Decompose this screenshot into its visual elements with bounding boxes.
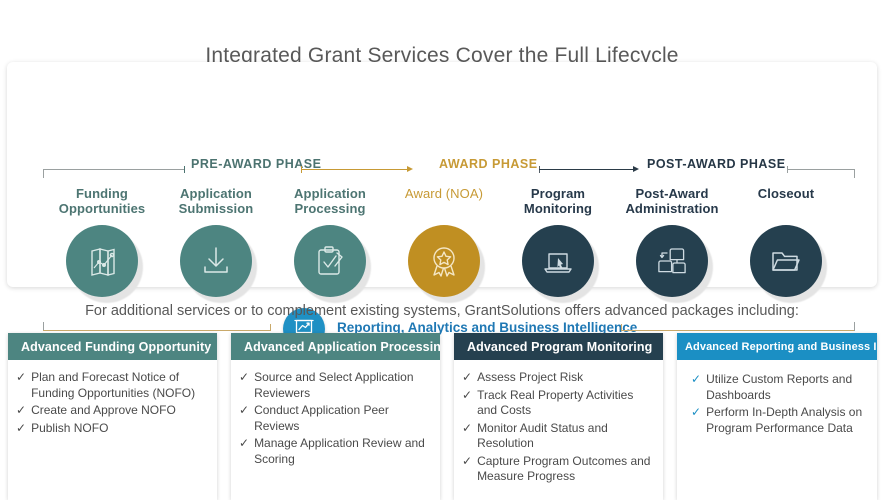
clipboard-check-icon <box>294 225 366 297</box>
package-header: Advanced Reporting and Business Intellig… <box>677 333 877 360</box>
step-label-line2: Monitoring <box>499 201 617 216</box>
step-application-processing[interactable]: Application Processing <box>271 186 389 297</box>
list-item-text: Assess Project Risk <box>477 370 655 386</box>
step-closeout[interactable]: Closeout <box>727 186 845 297</box>
download-tray-icon <box>180 225 252 297</box>
package-title: Advanced Funding Opportunity <box>21 340 211 354</box>
phase-label-post-award: POST-AWARD PHASE <box>647 157 786 171</box>
advanced-packages: Advanced Funding Opportunity ✓ Plan and … <box>0 333 884 500</box>
report-tick-left <box>270 324 271 331</box>
package-title: Advanced Application Processing <box>244 340 440 354</box>
step-label-line1: Award (NOA) <box>385 186 503 201</box>
package-title: Advanced Program Monitoring <box>467 340 652 354</box>
band-arrow-2 <box>633 166 639 172</box>
list-item-text: Publish NOFO <box>31 421 209 437</box>
check-icon: ✓ <box>691 372 701 403</box>
step-label-line1: Closeout <box>727 186 845 201</box>
check-icon: ✓ <box>691 405 701 436</box>
list-item: ✓ Conduct Application Peer Reviews <box>239 403 432 434</box>
list-item-text: Monitor Audit Status and Resolution <box>477 421 655 452</box>
package-body: ✓ Assess Project Risk ✓ Track Real Prope… <box>454 360 663 485</box>
lifecycle-steps: Funding Opportunities <box>43 186 855 296</box>
check-icon: ✓ <box>462 370 472 386</box>
list-item: ✓ Capture Program Outcomes and Measure P… <box>462 454 655 485</box>
phase-label-award: AWARD PHASE <box>439 157 538 171</box>
report-line-right <box>621 330 855 331</box>
step-label-line2: Opportunities <box>43 201 161 216</box>
list-item: ✓ Manage Application Review and Scoring <box>239 436 432 467</box>
package-header: Advanced Program Monitoring <box>454 333 663 360</box>
list-item-text: Track Real Property Activities and Costs <box>477 388 655 419</box>
step-label-line1: Application <box>157 186 275 201</box>
phase-band: PRE-AWARD PHASE AWARD PHASE POST-AWARD P… <box>43 158 855 180</box>
report-line-left <box>43 330 271 331</box>
list-item: ✓ Utilize Custom Reports and Dashboards <box>691 372 869 403</box>
list-item-text: Plan and Forecast Notice of Funding Oppo… <box>31 370 209 401</box>
band-line-3 <box>539 169 635 170</box>
list-item: ✓ Monitor Audit Status and Resolution <box>462 421 655 452</box>
list-item: ✓ Plan and Forecast Notice of Funding Op… <box>16 370 209 401</box>
package-card-advanced-funding-opportunity[interactable]: Advanced Funding Opportunity ✓ Plan and … <box>8 333 217 500</box>
list-item-text: Utilize Custom Reports and Dashboards <box>706 372 869 403</box>
lifecycle-card: PRE-AWARD PHASE AWARD PHASE POST-AWARD P… <box>7 62 877 287</box>
step-program-monitoring[interactable]: Program Monitoring <box>499 186 617 297</box>
step-label-line2: Processing <box>271 201 389 216</box>
step-label-line1: Post-Award <box>613 186 731 201</box>
list-item: ✓ Create and Approve NOFO <box>16 403 209 419</box>
package-card-advanced-reporting-and-business-intelligence[interactable]: Advanced Reporting and Business Intellig… <box>677 333 877 500</box>
package-card-advanced-program-monitoring[interactable]: Advanced Program Monitoring ✓ Assess Pro… <box>454 333 663 500</box>
list-item-text: Perform In-Depth Analysis on Program Per… <box>706 405 869 436</box>
check-icon: ✓ <box>462 421 472 452</box>
step-label-line2: Administration <box>613 201 731 216</box>
package-body: ✓ Plan and Forecast Notice of Funding Op… <box>8 360 217 436</box>
step-label-line1: Program <box>499 186 617 201</box>
list-item: ✓ Perform In-Depth Analysis on Program P… <box>691 405 869 436</box>
chart-panel-icon <box>66 225 138 297</box>
band-arrow-1 <box>407 166 413 172</box>
band-right-cap <box>854 169 855 178</box>
list-item: ✓ Assess Project Risk <box>462 370 655 386</box>
check-icon: ✓ <box>462 388 472 419</box>
list-item: ✓ Source and Select Application Reviewer… <box>239 370 432 401</box>
slide-canvas: Integrated Grant Services Cover the Full… <box>0 0 884 500</box>
award-medal-icon <box>408 225 480 297</box>
report-right-cap <box>854 322 855 331</box>
check-icon: ✓ <box>239 370 249 401</box>
check-icon: ✓ <box>239 436 249 467</box>
check-icon: ✓ <box>239 403 249 434</box>
band-line-1 <box>43 169 185 170</box>
additional-services-note: For additional services or to complement… <box>0 303 884 319</box>
band-left-cap <box>43 169 44 178</box>
list-item: ✓ Track Real Property Activities and Cos… <box>462 388 655 419</box>
list-item-text: Manage Application Review and Scoring <box>254 436 432 467</box>
band-tick-1 <box>184 166 185 173</box>
package-header: Advanced Funding Opportunity <box>8 333 217 360</box>
package-card-advanced-application-processing[interactable]: Advanced Application Processing ✓ Source… <box>231 333 440 500</box>
step-post-award-administration[interactable]: Post-Award Administration <box>613 186 731 297</box>
band-line-4 <box>787 169 855 170</box>
package-title: Advanced Reporting and Business Intellig… <box>685 341 877 353</box>
list-item-text: Capture Program Outcomes and Measure Pro… <box>477 454 655 485</box>
step-funding-opportunities[interactable]: Funding Opportunities <box>43 186 161 297</box>
check-icon: ✓ <box>462 454 472 485</box>
step-label-line1: Funding <box>43 186 161 201</box>
list-item-text: Source and Select Application Reviewers <box>254 370 432 401</box>
check-icon: ✓ <box>16 370 26 401</box>
folder-open-icon <box>750 225 822 297</box>
step-label-line2: Submission <box>157 201 275 216</box>
list-item: ✓ Publish NOFO <box>16 421 209 437</box>
band-line-2 <box>301 169 409 170</box>
step-label-line1: Application <box>271 186 389 201</box>
list-item-text: Conduct Application Peer Reviews <box>254 403 432 434</box>
package-body: ✓ Source and Select Application Reviewer… <box>231 360 440 467</box>
step-application-submission[interactable]: Application Submission <box>157 186 275 297</box>
package-body: ✓ Utilize Custom Reports and Dashboards … <box>677 360 877 436</box>
check-icon: ✓ <box>16 403 26 419</box>
step-award-noa[interactable]: Award (NOA) <box>385 186 503 297</box>
check-icon: ✓ <box>16 421 26 437</box>
laptop-cursor-icon <box>522 225 594 297</box>
list-item-text: Create and Approve NOFO <box>31 403 209 419</box>
package-header: Advanced Application Processing <box>231 333 440 360</box>
folders-transfer-icon <box>636 225 708 297</box>
